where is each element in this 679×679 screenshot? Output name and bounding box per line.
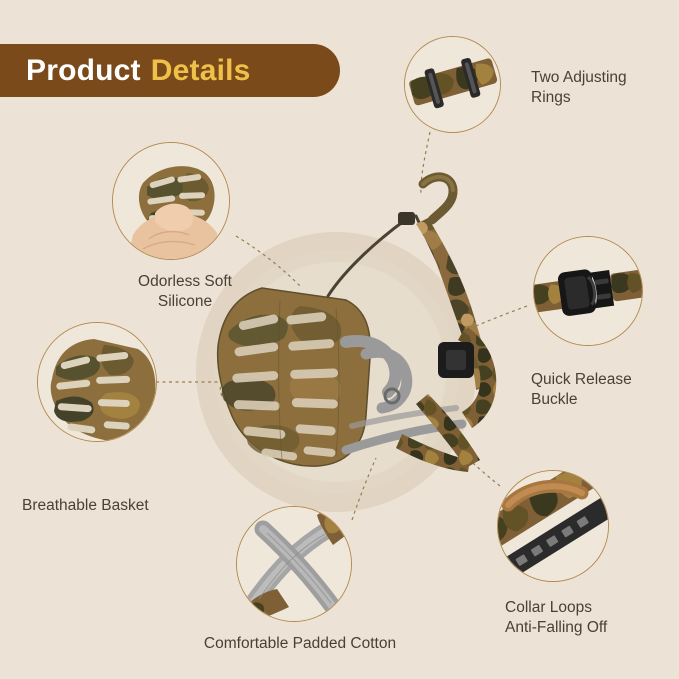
product-details-infographic: Product Details <box>0 0 679 679</box>
label-quick-release-buckle: Quick Release Buckle <box>531 370 679 410</box>
callout-collar-loops <box>497 470 609 582</box>
callout-two-adjusting-rings <box>404 36 501 133</box>
page-title-accent: Details <box>151 54 251 88</box>
collar-loops-icon <box>498 471 609 582</box>
label-two-adjusting-rings: Two Adjusting Rings <box>531 68 679 108</box>
hand-holding-muzzle-icon <box>113 143 230 260</box>
basket-muzzle-icon <box>38 323 157 442</box>
callout-quick-release-buckle <box>533 236 643 346</box>
padded-cotton-strap-icon <box>237 507 352 622</box>
black-buckle-icon <box>534 237 643 346</box>
callout-comfortable-padded-cotton <box>236 506 352 622</box>
label-odorless-soft-silicone: Odorless Soft Silicone <box>105 272 265 312</box>
callout-breathable-basket <box>37 322 157 442</box>
camo-strap-with-rings-icon <box>405 37 501 133</box>
label-collar-loops: Collar Loops Anti-Falling Off <box>505 598 675 638</box>
label-comfortable-padded-cotton: Comfortable Padded Cotton <box>180 634 420 654</box>
label-breathable-basket: Breathable Basket <box>22 496 212 516</box>
page-title-primary: Product <box>26 54 141 88</box>
callout-odorless-soft-silicone <box>112 142 230 260</box>
page-title-banner: Product Details <box>0 44 340 97</box>
